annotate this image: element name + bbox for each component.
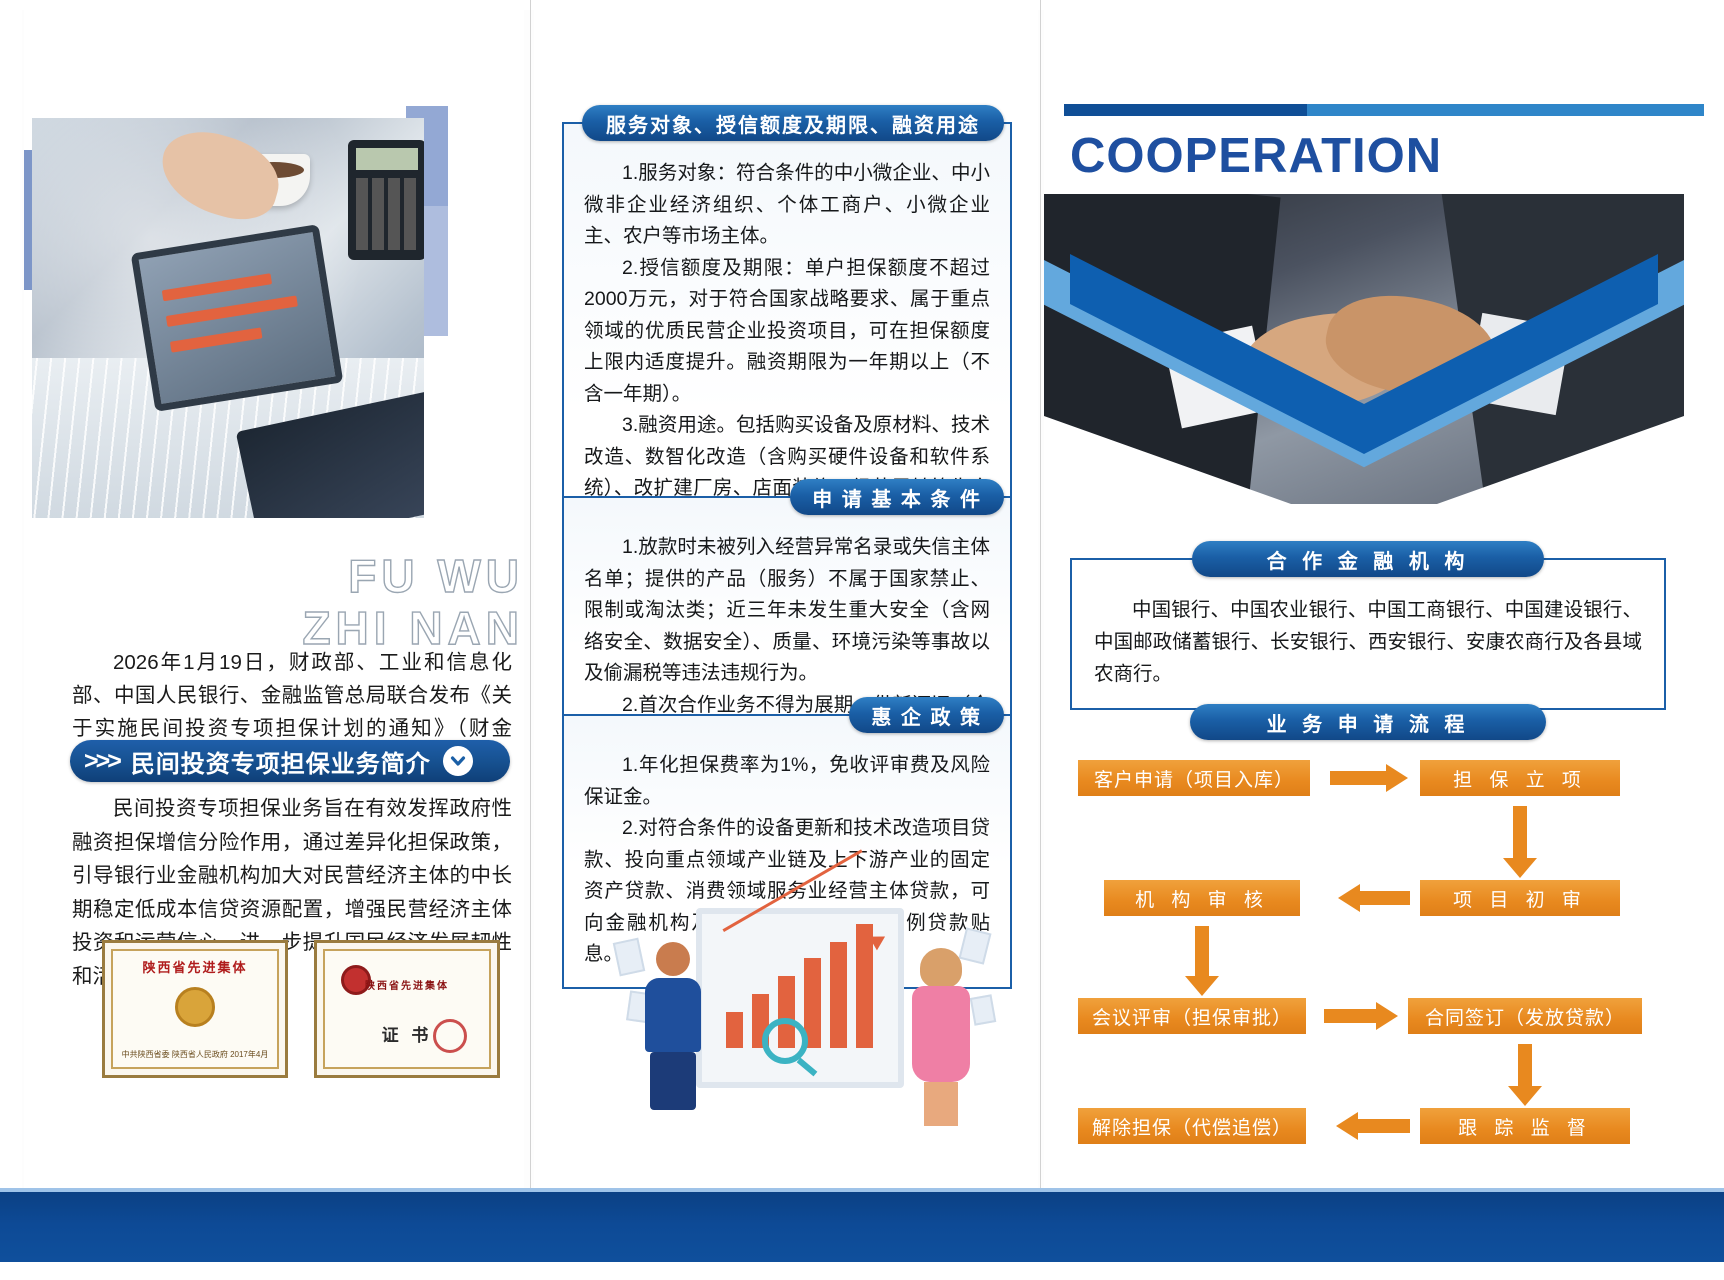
paragraph: 2.授信额度及期限：单户担保额度不超过2000万元，对于符合国家战略要求、属于重…	[584, 253, 990, 411]
flow-step-contract-signing[interactable]: 合同签订（发放贷款）	[1408, 998, 1642, 1034]
flow-arrow-down-1	[1513, 806, 1527, 858]
certificate-stamp-icon	[433, 1019, 467, 1053]
person-head	[656, 942, 690, 976]
certificate-footer: 中共陕西省委 陕西省人民政府 2017年4月	[105, 1049, 285, 1061]
tablet-bar-1	[162, 273, 272, 301]
flow-section-title: 业 务 申 请 流 程	[1190, 704, 1546, 740]
person-body	[645, 978, 701, 1052]
flow-step-release-guarantee[interactable]: 解除担保（代偿追偿）	[1078, 1108, 1306, 1144]
person-hair	[920, 948, 962, 988]
paragraph: 1.年化担保费率为1%，免收评审费及风险保证金。	[584, 750, 990, 813]
paragraph: 中国银行、中国农业银行、中国工商银行、中国建设银行、中国邮政储蓄银行、长安银行、…	[1094, 594, 1642, 690]
cooperation-title: COOPERATION	[1070, 128, 1442, 184]
person-left-illustration	[642, 942, 704, 1102]
chart-bar	[830, 942, 847, 1048]
paragraph: 1.服务对象：符合条件的中小微企业、中小微非企业经济组织、个体工商户、小微企业主…	[584, 158, 990, 253]
card-title-enterprise-policy: 惠 企 政 策	[849, 697, 1004, 733]
tablet-device	[131, 224, 344, 412]
calculator-screen	[356, 148, 418, 170]
certificate-title: 陕西省先进集体	[105, 957, 285, 976]
section-badge-label: 民间投资专项担保业务简介	[131, 744, 431, 779]
panel-left: FU WU ZHI NAN 2026年1月19日，财政部、工业和信息化部、中国人…	[24, 10, 524, 1190]
card-title-partner-banks: 合 作 金 融 机 构	[1192, 541, 1544, 577]
card-partner-banks: 合 作 金 融 机 构 中国银行、中国农业银行、中国工商银行、中国建设银行、中国…	[1070, 558, 1666, 710]
certificate-seal-icon	[175, 987, 215, 1027]
pinyin-heading: FU WU ZHI NAN	[284, 550, 524, 654]
pinyin-line-1: FU WU	[348, 550, 524, 602]
chart-bar	[856, 924, 873, 1048]
certificate-document: 陕西省先进集体 证 书	[314, 940, 500, 1078]
certificate-plaque: 陕西省先进集体 中共陕西省委 陕西省人民政府 2017年4月	[102, 940, 288, 1078]
fold-line-1	[530, 0, 531, 1190]
flow-arrow-down-2	[1195, 926, 1209, 976]
flow-step-project-review[interactable]: 项 目 初 审	[1420, 880, 1620, 916]
certificate-title: 陕西省先进集体	[317, 977, 497, 992]
chevron-down-circle-icon	[443, 746, 473, 776]
panel-right: COOPERATION 合 作 金 融 机 构 中国银行、中国农业银行、中国工商…	[1044, 10, 1724, 1190]
fold-line-2	[1040, 0, 1041, 1190]
footer-white-edge	[0, 1262, 1724, 1280]
flow-arrow-left-1	[1360, 891, 1410, 905]
floating-note	[613, 938, 646, 977]
left-white-margin	[0, 0, 22, 1280]
flow-step-tracking-supervision[interactable]: 跟 踪 监 督	[1420, 1108, 1630, 1144]
growth-chart-illustration	[614, 900, 994, 1115]
tablet-bar-2	[166, 295, 298, 327]
flow-step-customer-application[interactable]: 客户申请（项目入库）	[1078, 760, 1310, 796]
flow-step-meeting-review[interactable]: 会议评审（担保审批）	[1078, 998, 1306, 1034]
person-legs	[924, 1082, 958, 1126]
certificate-gallery: 陕西省先进集体 中共陕西省委 陕西省人民政府 2017年4月 陕西省先进集体 证…	[102, 940, 522, 1085]
application-flow-diagram: 客户申请（项目入库） 担 保 立 项 项 目 初 审 机 构 审 核 会议评审（…	[1070, 748, 1670, 1088]
card-title-service-scope: 服务对象、授信额度及期限、融资用途	[582, 105, 1004, 141]
chevrons-icon: >>>	[84, 749, 119, 774]
flow-arrow-down-3	[1518, 1044, 1532, 1086]
top-white-margin	[0, 0, 1724, 10]
paragraph: 1.放款时未被列入经营异常名录或失信主体名单；提供的产品（服务）不属于国家禁止、…	[584, 532, 990, 690]
flow-arrow-right-1	[1330, 771, 1386, 785]
certificate-word: 证 书	[317, 1021, 497, 1046]
tablet-bar-3	[170, 327, 263, 352]
calculator	[348, 140, 424, 260]
calculator-keys	[356, 178, 418, 250]
magnifier-icon	[762, 1018, 808, 1064]
chart-bar	[726, 1012, 743, 1048]
flow-arrow-left-2	[1358, 1119, 1410, 1133]
flow-step-institution-audit[interactable]: 机 构 审 核	[1104, 880, 1300, 916]
flow-step-guarantee-project[interactable]: 担 保 立 项	[1420, 760, 1620, 796]
brochure-page: FU WU ZHI NAN 2026年1月19日，财政部、工业和信息化部、中国人…	[0, 0, 1724, 1280]
card-title-basic-conditions: 申 请 基 本 条 件	[790, 479, 1004, 515]
section-badge-intro[interactable]: >>> 民间投资专项担保业务简介	[70, 740, 510, 782]
card-body-partner-banks: 中国银行、中国农业银行、中国工商银行、中国建设银行、中国邮政储蓄银行、长安银行、…	[1072, 560, 1664, 708]
panel-middle: 服务对象、授信额度及期限、融资用途 1.服务对象：符合条件的中小微企业、中小微非…	[534, 10, 1038, 1190]
person-body	[912, 986, 970, 1082]
hand-upper	[152, 121, 289, 229]
person-right-illustration	[908, 952, 974, 1102]
person-legs	[650, 1052, 696, 1110]
flow-arrow-right-2	[1324, 1009, 1376, 1023]
cooperation-top-bar	[1064, 104, 1704, 116]
office-desk-photo	[32, 118, 424, 518]
